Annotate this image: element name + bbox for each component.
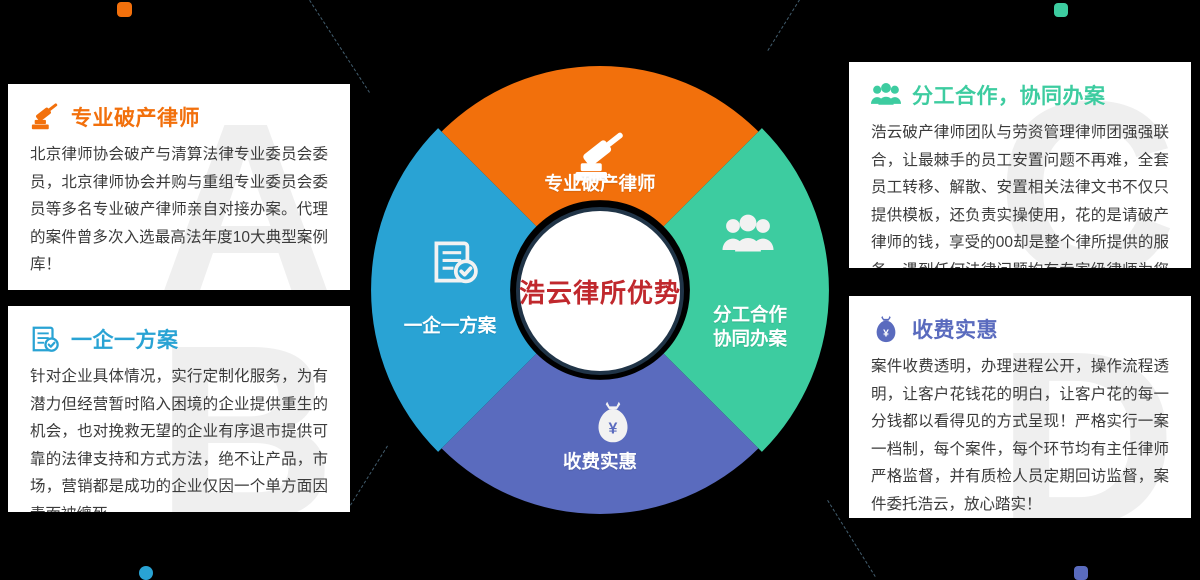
card-body-text: 案件收费透明，办理进程公开，操作流程透明，让客户花钱花的明白，让客户花的每一分钱…: [871, 353, 1169, 518]
orange-square-dot: [117, 2, 132, 17]
wheel-label-bottom[interactable]: 收费实惠: [370, 450, 830, 474]
feature-card-affordable-fee[interactable]: D ¥ 收费实惠 案件收费透明，办理进程公开，操作流程透明，让客户花钱花的明白，…: [849, 296, 1191, 518]
guide-line-top-left: [309, 0, 370, 93]
money-bag-icon: ¥: [871, 314, 901, 344]
svg-text:¥: ¥: [609, 421, 618, 438]
purple-square-dot: [1074, 566, 1088, 580]
card-title: 专业破产律师: [71, 102, 200, 132]
card-body-text: 针对企业具体情况，实行定制化服务，为有潜力但经营暂时陷入困境的企业提供重生的机会…: [30, 363, 328, 512]
advantages-wheel: ¥ 专业破产律师 分工合作 协同办案 收费实惠 一企一方案: [370, 50, 830, 530]
card-header: 分工合作，协同办案: [871, 80, 1169, 110]
card-header: 专业破产律师: [30, 102, 328, 132]
wheel-hub-title: 浩云律所优势: [519, 273, 681, 310]
feature-card-custom-plan[interactable]: B: [8, 306, 350, 512]
green-square-dot: [1054, 3, 1068, 17]
card-header: ¥ 收费实惠: [871, 314, 1169, 344]
guide-line-top-right: [767, 0, 800, 51]
feature-card-professional-lawyer[interactable]: A 专业破产律师 北京律师协会破产与清算法律专业委员会委员，北京律师协会并购与重…: [8, 84, 350, 290]
wheel-hub: 浩云律所优势: [516, 207, 684, 375]
group-people-icon: [871, 80, 901, 110]
wheel-label-left[interactable]: 一企一方案: [370, 314, 530, 338]
card-body-text: 北京律师协会破产与清算法律专业委员会委员，北京律师协会并购与重组专业委员会委员等…: [30, 141, 328, 279]
infographic-stage: A 专业破产律师 北京律师协会破产与清算法律专业委员会委员，北京律师协会并购与重…: [0, 0, 1200, 577]
gavel-icon: [30, 102, 60, 132]
wheel-label-top[interactable]: 专业破产律师: [370, 172, 830, 196]
card-title: 收费实惠: [912, 314, 998, 344]
blue-circle-dot: [139, 566, 153, 580]
card-title: 一企一方案: [71, 324, 179, 354]
card-header: 一企一方案: [30, 324, 328, 354]
document-check-icon: [30, 324, 60, 354]
card-title: 分工合作，协同办案: [912, 80, 1106, 110]
feature-card-teamwork[interactable]: C 分工合作，协同办案 浩云破产律师团队与劳资管理律师团强强联合，让最棘手的员工…: [849, 62, 1191, 268]
wheel-label-right[interactable]: 分工合作 协同办案: [670, 303, 830, 351]
svg-text:¥: ¥: [883, 329, 889, 340]
card-body-text: 浩云破产律师团队与劳资管理律师团强强联合，让最棘手的员工安置问题不再难，全套员工…: [871, 119, 1169, 268]
